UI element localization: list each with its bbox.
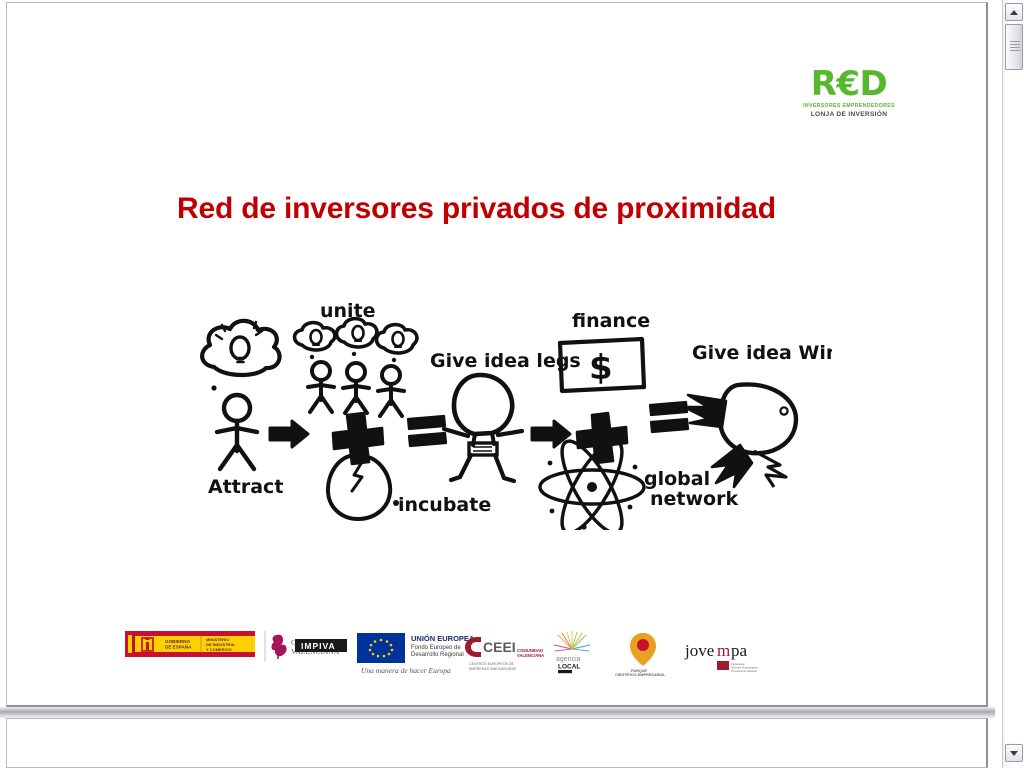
svg-text:m: m bbox=[717, 641, 730, 660]
stick-figures-group bbox=[308, 362, 404, 416]
unite-thought-bubbles bbox=[295, 319, 417, 363]
scroll-up-button[interactable] bbox=[1005, 3, 1023, 21]
label-network: network bbox=[650, 488, 738, 510]
svg-text:Una manera de hacer Europa: Una manera de hacer Europa bbox=[361, 666, 451, 675]
slide-title: Red de inversores privados de proximidad bbox=[177, 192, 857, 226]
svg-text:jove: jove bbox=[684, 641, 714, 660]
svg-text:EMPRESAS INNOVADORAS: EMPRESAS INNOVADORAS bbox=[469, 667, 517, 671]
svg-text:DE ESPAÑA: DE ESPAÑA bbox=[165, 644, 192, 650]
label-attract: Attract bbox=[208, 476, 283, 498]
svg-text:UNIÓN EUROPEA: UNIÓN EUROPEA bbox=[411, 634, 475, 643]
stick-figure-attract bbox=[217, 395, 257, 469]
equals-sign-1 bbox=[408, 416, 446, 446]
label-global: global bbox=[644, 468, 710, 490]
gobierno-de-espana-logo: GOBIERNO DE ESPAÑA MINISTERIO DE INDUSTR… bbox=[125, 631, 255, 657]
vertical-scrollbar[interactable] bbox=[1002, 0, 1024, 768]
scroll-down-button[interactable] bbox=[1005, 744, 1023, 762]
svg-text:LOCAL: LOCAL bbox=[558, 664, 580, 671]
ceei-logo: CEEI COMUNIDAD VALENCIANA CENTROS EUROPE… bbox=[465, 637, 544, 671]
slide-page: R€D INVERSORES EMPRENDEDORES LONJA DE IN… bbox=[6, 2, 988, 707]
equals-sign-2 bbox=[650, 402, 688, 432]
svg-text:pa: pa bbox=[731, 641, 748, 660]
next-slide-page bbox=[6, 718, 988, 768]
label-unite: unite bbox=[320, 300, 376, 322]
svg-text:Y COMERCIO: Y COMERCIO bbox=[206, 647, 232, 652]
jovempa-logo: jove m pa Federación Jóvenes Empresarios… bbox=[684, 641, 758, 673]
chevron-up-icon bbox=[1010, 10, 1018, 15]
svg-text:Fondo Europeo de: Fondo Europeo de bbox=[411, 645, 461, 651]
process-diagram: Attract bbox=[192, 295, 832, 530]
svg-text:GOBIERNO: GOBIERNO bbox=[165, 639, 190, 644]
plus-sign-2 bbox=[577, 413, 627, 463]
svg-text:CENTROS EUROPEOS DE: CENTROS EUROPEOS DE bbox=[469, 662, 515, 666]
svg-text:IMPIVA: IMPIVA bbox=[301, 641, 336, 651]
red-tagline-lonja: LONJA DE INVERSIÓN bbox=[803, 110, 895, 119]
agencia-local-logo: agencia LOCAL bbox=[554, 631, 590, 673]
arrow-right-1 bbox=[270, 421, 308, 447]
chevron-down-icon bbox=[1010, 751, 1018, 756]
page-separator bbox=[0, 707, 995, 718]
red-tagline-inversores: INVERSORES EMPRENDEDORES bbox=[803, 103, 895, 110]
svg-text:VALENCIANA: VALENCIANA bbox=[517, 653, 544, 658]
label-incubate: incubate bbox=[398, 494, 491, 516]
svg-text:$: $ bbox=[589, 348, 613, 388]
red-brand-logo: R€D INVERSORES EMPRENDEDORES LONJA DE IN… bbox=[803, 67, 895, 119]
scrollbar-grip-icon bbox=[1010, 41, 1020, 53]
bulb-with-legs-icon bbox=[444, 375, 522, 481]
label-finance: finance bbox=[572, 310, 650, 332]
svg-text:CIENTÍFICO-EMPRESARIAL: CIENTÍFICO-EMPRESARIAL bbox=[615, 672, 666, 676]
impiva-logo: IMPIVA bbox=[295, 639, 347, 652]
svg-text:CEEI: CEEI bbox=[483, 639, 516, 655]
presentation-viewer: R€D INVERSORES EMPRENDEDORES LONJA DE IN… bbox=[0, 0, 1024, 768]
label-give-idea-wings: Give idea Wings bbox=[692, 342, 832, 364]
scrollbar-thumb[interactable] bbox=[1005, 24, 1023, 70]
parque-cientifico-umh-logo: PARQUE CIENTÍFICO-EMPRESARIAL bbox=[615, 633, 666, 676]
atom-network-icon bbox=[540, 433, 644, 530]
union-europea-logo: UNIÓN EUROPEA Fondo Europeo de Desarroll… bbox=[357, 633, 475, 675]
scrollbar-track[interactable] bbox=[1005, 70, 1023, 742]
egg-incubate-icon bbox=[328, 455, 399, 519]
label-give-idea-legs: Give idea legs bbox=[430, 350, 581, 372]
red-wordmark: R€D bbox=[803, 67, 895, 101]
svg-text:Desarrollo Regional: Desarrollo Regional bbox=[411, 652, 464, 658]
thought-cloud-icon bbox=[202, 321, 279, 391]
footer-sponsor-logos: GOBIERNO DE ESPAÑA MINISTERIO DE INDUSTR… bbox=[125, 621, 765, 676]
svg-text:Provincia de Alicante: Provincia de Alicante bbox=[731, 669, 757, 673]
svg-text:agencia: agencia bbox=[556, 656, 581, 663]
